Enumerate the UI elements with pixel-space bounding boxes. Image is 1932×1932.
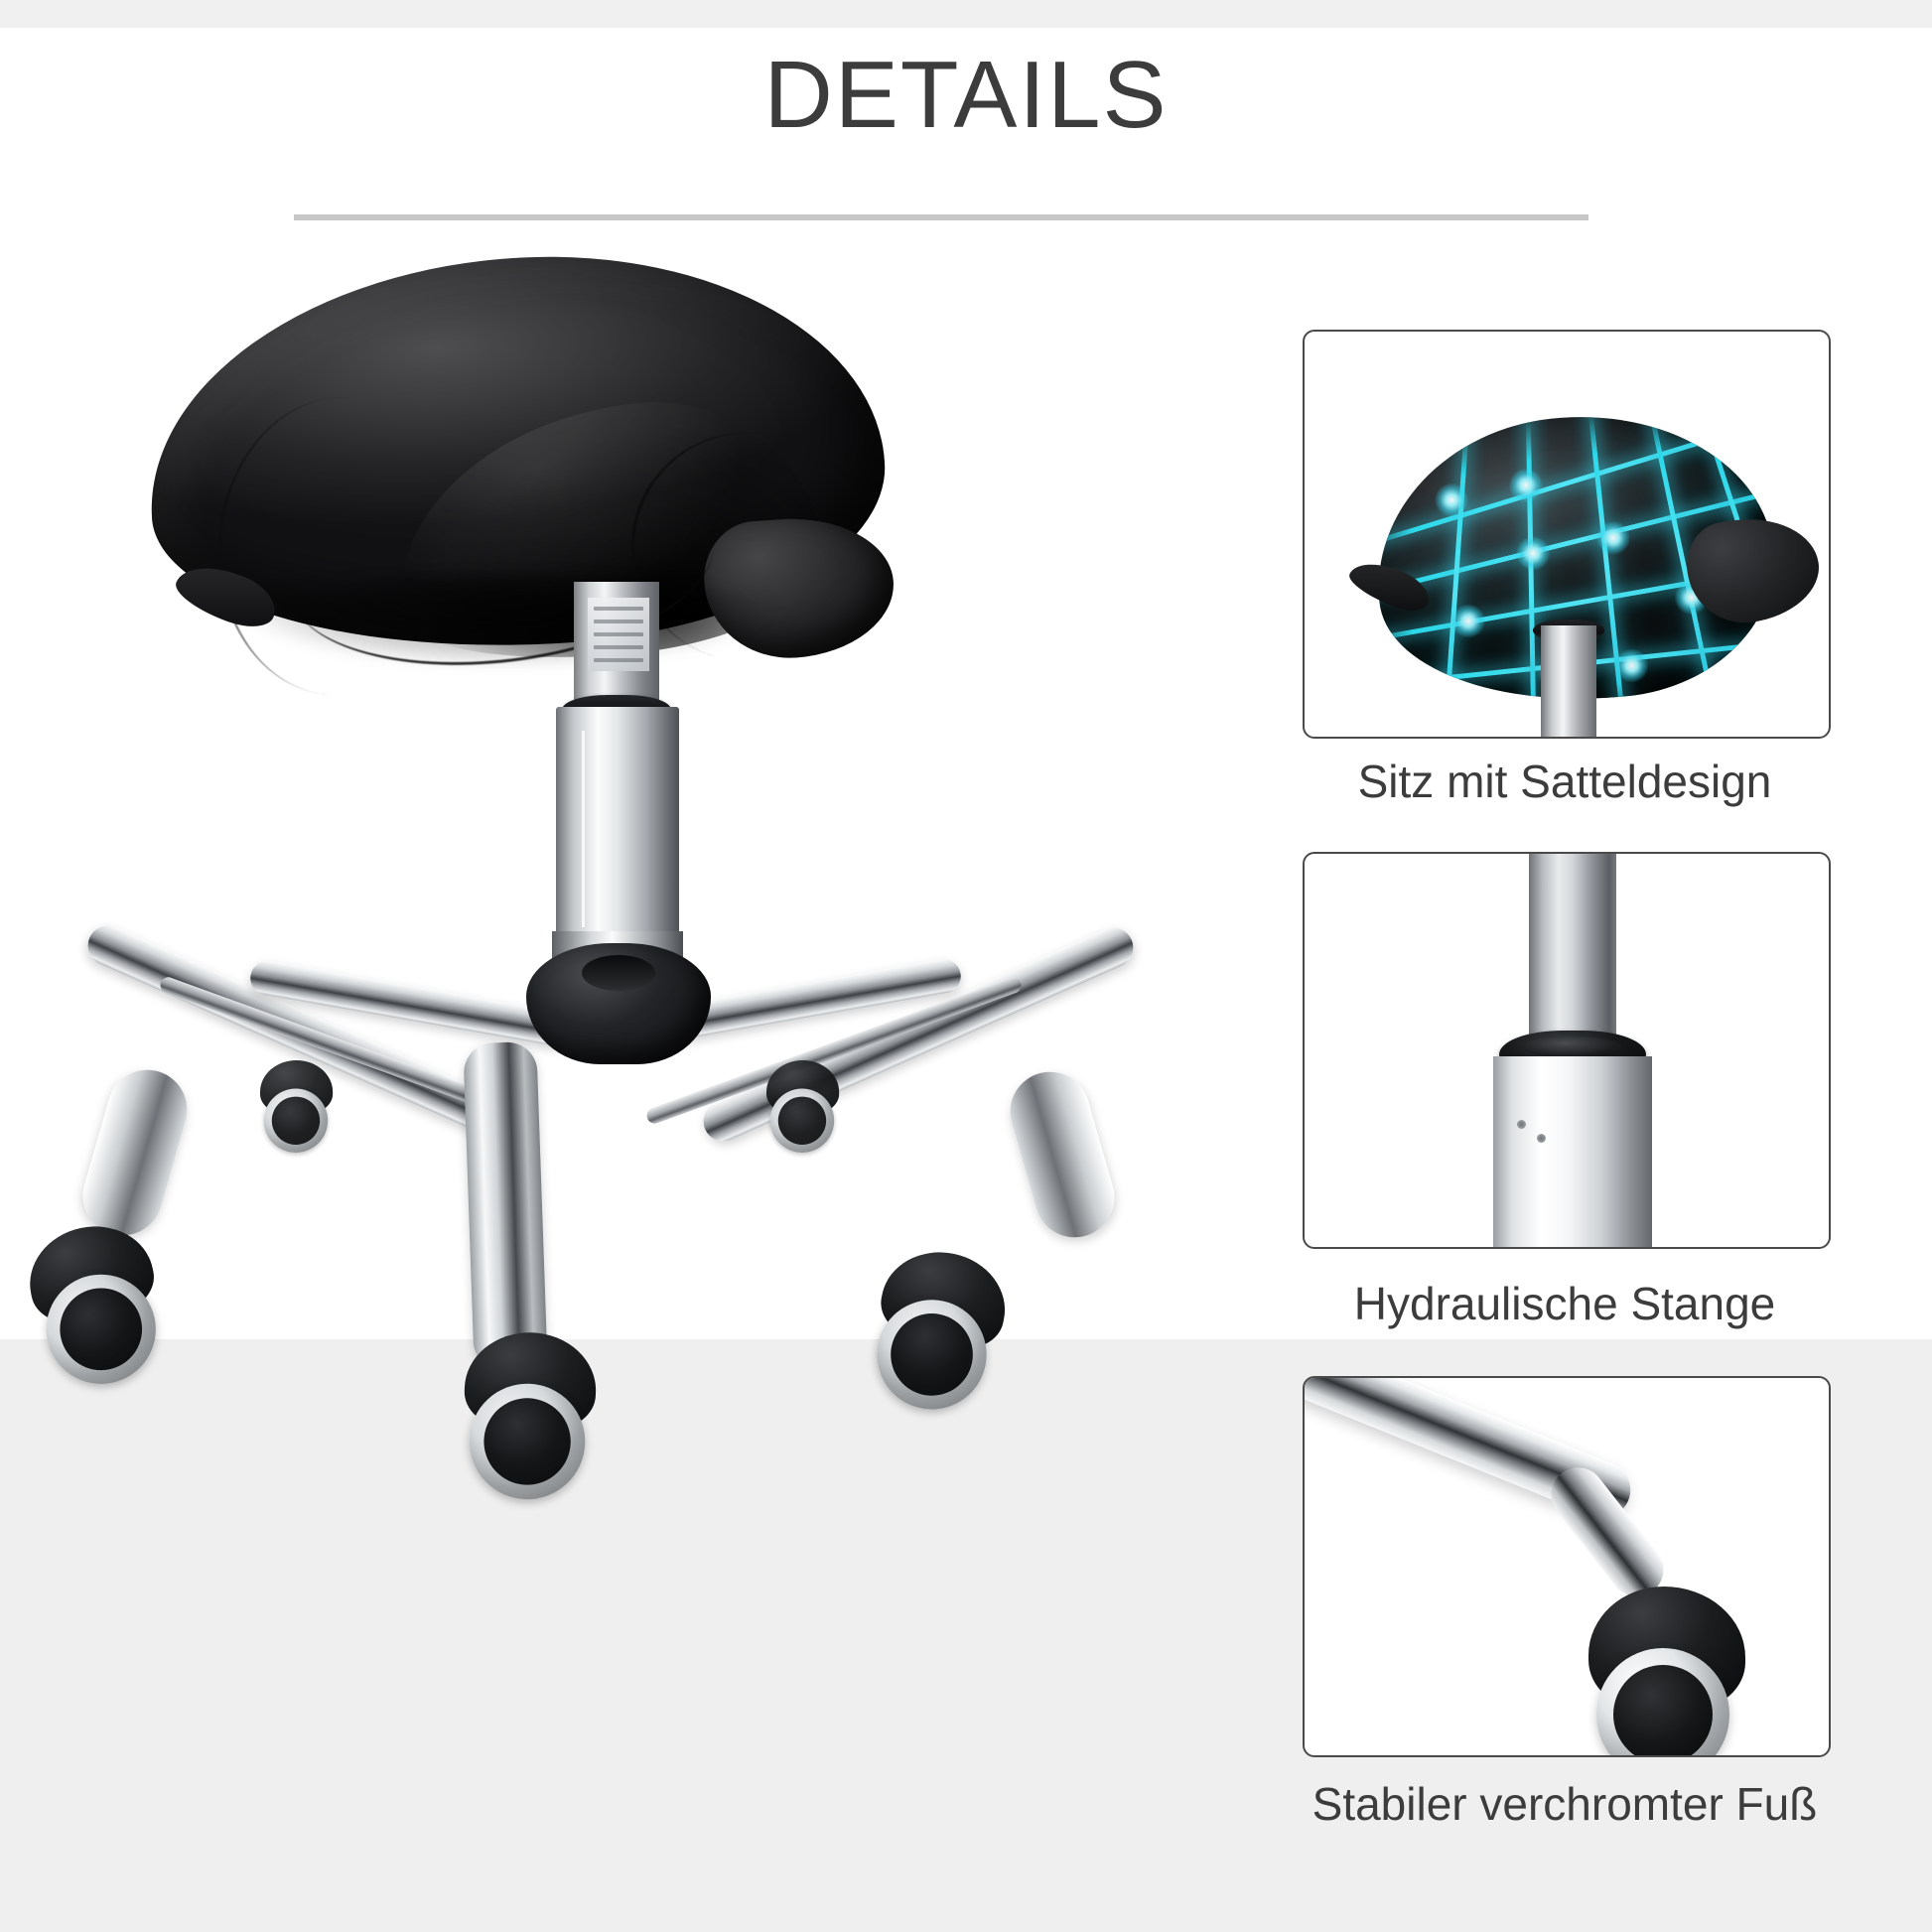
hydraulic-sleeve bbox=[1493, 1056, 1652, 1247]
gas-rod-closeup bbox=[1541, 625, 1596, 737]
detail-caption-saddle-seat: Sitz mit Satteldesign bbox=[1303, 755, 1827, 808]
product-hero-image bbox=[0, 248, 1112, 1658]
caster-tyre bbox=[770, 1089, 834, 1153]
detail-card-hydraulic-rod bbox=[1303, 852, 1831, 1249]
hydraulic-rod-closeup bbox=[1529, 852, 1616, 1042]
title-divider bbox=[294, 214, 1588, 220]
detail-caption-hydraulic-rod: Hydraulische Stange bbox=[1303, 1277, 1827, 1330]
cylinder-sleeve bbox=[556, 707, 679, 955]
hub-slot bbox=[582, 955, 655, 991]
seat-underside-shadow bbox=[228, 574, 784, 669]
base-leg-foot bbox=[1001, 1062, 1124, 1246]
detail-card-saddle-seat bbox=[1303, 330, 1831, 739]
page-title: DETAILS bbox=[0, 48, 1932, 143]
caster-tyre bbox=[264, 1089, 328, 1153]
cylinder-warning-label bbox=[588, 598, 649, 671]
detail-caption-chrome-base: Stabiler verchromter Fuß bbox=[1303, 1777, 1827, 1831]
sleeve-rivets bbox=[1517, 1120, 1551, 1150]
base-leg-front bbox=[463, 1041, 547, 1371]
base-leg-foot bbox=[73, 1060, 197, 1244]
detail-card-chrome-base bbox=[1303, 1376, 1831, 1757]
stool-seat bbox=[149, 258, 884, 675]
detail-page: DETAILS bbox=[0, 0, 1932, 1932]
cylinder-highlight bbox=[582, 731, 585, 927]
top-band bbox=[0, 0, 1932, 28]
